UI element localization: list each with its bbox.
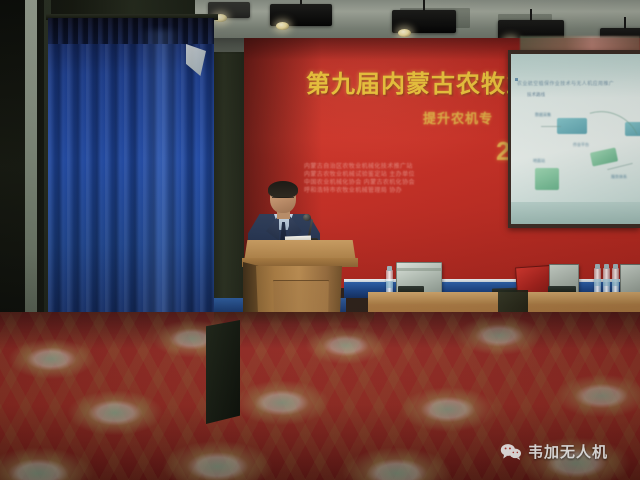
bottle-cap-icon bbox=[604, 264, 608, 269]
diagram-label: 作业平台 bbox=[573, 142, 589, 148]
presenter-hair bbox=[268, 181, 298, 198]
light-arm bbox=[624, 17, 626, 29]
banner-subtitle: 提升农机专 bbox=[423, 108, 493, 127]
left-wall-dark-edge bbox=[0, 0, 26, 332]
banner-fine-line: 内蒙古自治区农牧业机械化技术推广站 bbox=[304, 163, 519, 171]
water-bottle bbox=[594, 268, 601, 294]
bottle-label bbox=[603, 279, 610, 286]
chair-back bbox=[206, 320, 240, 424]
bottle-cap-icon bbox=[613, 264, 617, 269]
diagram-link bbox=[541, 126, 561, 127]
banner-fine-line: 呼和浩特市农牧业机械管理局 协办 bbox=[304, 187, 519, 195]
glasses-icon bbox=[272, 197, 294, 203]
diagram-label: 服务体系 bbox=[611, 174, 627, 180]
water-bottle bbox=[603, 268, 610, 294]
stage-light bbox=[392, 10, 456, 33]
water-bottle bbox=[612, 268, 619, 294]
wall-light-strip bbox=[25, 0, 37, 332]
bottle-cap-icon bbox=[595, 264, 599, 269]
podium-lip bbox=[242, 258, 358, 267]
bottle-cap-icon bbox=[387, 266, 391, 271]
light-arm bbox=[300, 0, 302, 5]
screen-lower-band bbox=[511, 202, 640, 224]
banner-fine-print: 内蒙古自治区农牧业机械化技术推广站 内蒙古农牧业机械试验鉴定站 主办单位 中国农… bbox=[304, 163, 519, 195]
stage-light bbox=[270, 4, 332, 26]
microphone-icon bbox=[303, 214, 311, 221]
bottle-label bbox=[386, 281, 393, 288]
bottle-label bbox=[594, 279, 601, 286]
gift-box-band bbox=[397, 268, 441, 270]
wechat-icon bbox=[500, 443, 522, 460]
banner-fine-line: 内蒙古农牧业机械试验鉴定站 主办单位 bbox=[304, 171, 519, 179]
conference-photo: 第九届内蒙古农牧业机 提升农机专 2 内蒙古自治区农牧业机械化技术推广站 内蒙古… bbox=[0, 0, 640, 480]
light-lens bbox=[276, 22, 289, 30]
diagram-label: 地面站 bbox=[533, 158, 545, 164]
curtain-highlight bbox=[140, 30, 182, 320]
curtain-pleat-header bbox=[48, 18, 214, 44]
screen-glare bbox=[511, 54, 640, 98]
watermark-text: 韦加无人机 bbox=[528, 441, 608, 462]
diagram-label: 数据采集 bbox=[535, 112, 551, 118]
banner-fine-line: 中国农业机械化协会 内蒙古农机化协会 bbox=[304, 179, 519, 187]
light-arm bbox=[530, 9, 532, 21]
diagram-arc bbox=[560, 100, 640, 186]
diagram-node bbox=[535, 168, 559, 190]
light-arm bbox=[423, 0, 425, 11]
watermark: 韦加无人机 bbox=[500, 441, 608, 462]
bottle-label bbox=[612, 279, 619, 286]
light-lens bbox=[398, 29, 411, 37]
